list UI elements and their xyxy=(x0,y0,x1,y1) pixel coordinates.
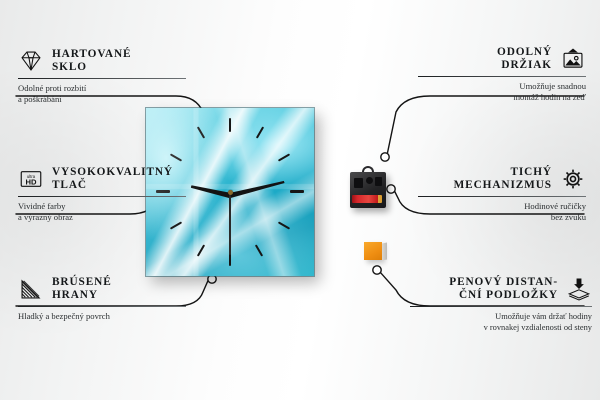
connector-dot-durable-hanger xyxy=(381,153,389,161)
feature-title: ODOLNÝ DRŽIAK xyxy=(497,46,552,72)
clock-movement-mechanism xyxy=(350,172,386,208)
feature-desc-line2: montáž hodin na zeď xyxy=(418,92,586,103)
feature-header: PENOVÝ DISTAN- ČNÍ PODLOŽKY xyxy=(410,276,592,302)
feature-desc-line1: Odolné proti rozbití xyxy=(18,83,186,94)
aa-battery xyxy=(352,195,382,203)
feature-divider xyxy=(18,196,186,197)
feature-desc-line2: a výrazný obraz xyxy=(18,212,186,223)
feature-title: BRÚSENÉ HRANY xyxy=(52,276,112,302)
feature-high-quality-print: ultra HD VYSOKOKVALITNÝ TLAČ Vividné far… xyxy=(18,166,186,224)
foam-spacer-pad xyxy=(364,242,382,260)
foam-spacer-pad-side xyxy=(382,242,387,260)
feature-title: HARTOVANÉ SKLO xyxy=(52,48,131,74)
feature-desc-line1: Vividné farby xyxy=(18,201,186,212)
movement-slot-c xyxy=(375,177,382,186)
second-hand xyxy=(229,193,231,255)
feature-title: PENOVÝ DISTAN- ČNÍ PODLOŽKY xyxy=(449,276,558,302)
feature-foam-spacers: PENOVÝ DISTAN- ČNÍ PODLOŽKY Umožňuje vám… xyxy=(410,276,592,334)
hatched-triangle-icon xyxy=(18,276,44,302)
feature-durable-hanger: ODOLNÝ DRŽIAK Umožňuje snadnou montáž ho… xyxy=(418,46,586,104)
feature-desc-line1: Hodinové ručičky xyxy=(418,201,586,212)
ultra-hd-badge-icon: ultra HD xyxy=(18,166,44,192)
feature-desc-line2: bez zvuku xyxy=(418,212,586,223)
picture-frame-hanger-icon xyxy=(560,46,586,72)
feature-header: TICHÝ MECHANIZMUS xyxy=(418,166,586,192)
feature-divider xyxy=(18,78,186,79)
feature-silent-mechanism: TICHÝ MECHANIZMUS Hodinové ručičky bez z… xyxy=(418,166,586,224)
gear-icon xyxy=(560,166,586,192)
hour-tick-3 xyxy=(290,190,304,193)
feature-desc-line1: Umožňuje vám držať hodiny xyxy=(410,311,592,322)
feature-header: ODOLNÝ DRŽIAK xyxy=(418,46,586,72)
hour-tick-12 xyxy=(229,118,231,132)
feature-header: ultra HD VYSOKOKVALITNÝ TLAČ xyxy=(18,166,186,192)
feature-divider xyxy=(418,76,586,77)
feature-divider xyxy=(418,196,586,197)
movement-slot-a xyxy=(354,178,363,188)
feature-desc-line1: Umožňuje snadnou xyxy=(418,81,586,92)
feature-tempered-glass: HARTOVANÉ SKLO Odolné proti rozbití a po… xyxy=(18,48,186,106)
diamond-icon xyxy=(18,48,44,74)
movement-dial-knob xyxy=(366,177,373,184)
svg-text:HD: HD xyxy=(25,177,37,186)
feature-desc-line2: v rovnakej vzdialenosti od steny xyxy=(410,322,592,333)
feature-header: HARTOVANÉ SKLO xyxy=(18,48,186,74)
connector-dot-ground-edges xyxy=(208,275,216,283)
connector-dot-foam-spacers xyxy=(373,266,381,274)
feature-title: TICHÝ MECHANIZMUS xyxy=(454,166,552,192)
feature-ground-edges: BRÚSENÉ HRANY Hladký a bezpečný povrch xyxy=(18,276,186,322)
product-infographic: HARTOVANÉ SKLO Odolné proti rozbití a po… xyxy=(0,0,600,400)
press-down-layers-icon xyxy=(566,276,592,302)
hands-center-pin xyxy=(228,190,233,195)
feature-desc-line1: Hladký a bezpečný povrch xyxy=(18,311,186,322)
connector-dot-silent-mechanism xyxy=(387,185,395,193)
feature-header: BRÚSENÉ HRANY xyxy=(18,276,186,302)
feature-title: VYSOKOKVALITNÝ TLAČ xyxy=(52,166,173,192)
feature-divider xyxy=(18,306,186,307)
connector-line-durable-hanger xyxy=(386,96,584,160)
feature-divider xyxy=(410,306,592,307)
feature-desc-line2: a poškrábání xyxy=(18,94,186,105)
